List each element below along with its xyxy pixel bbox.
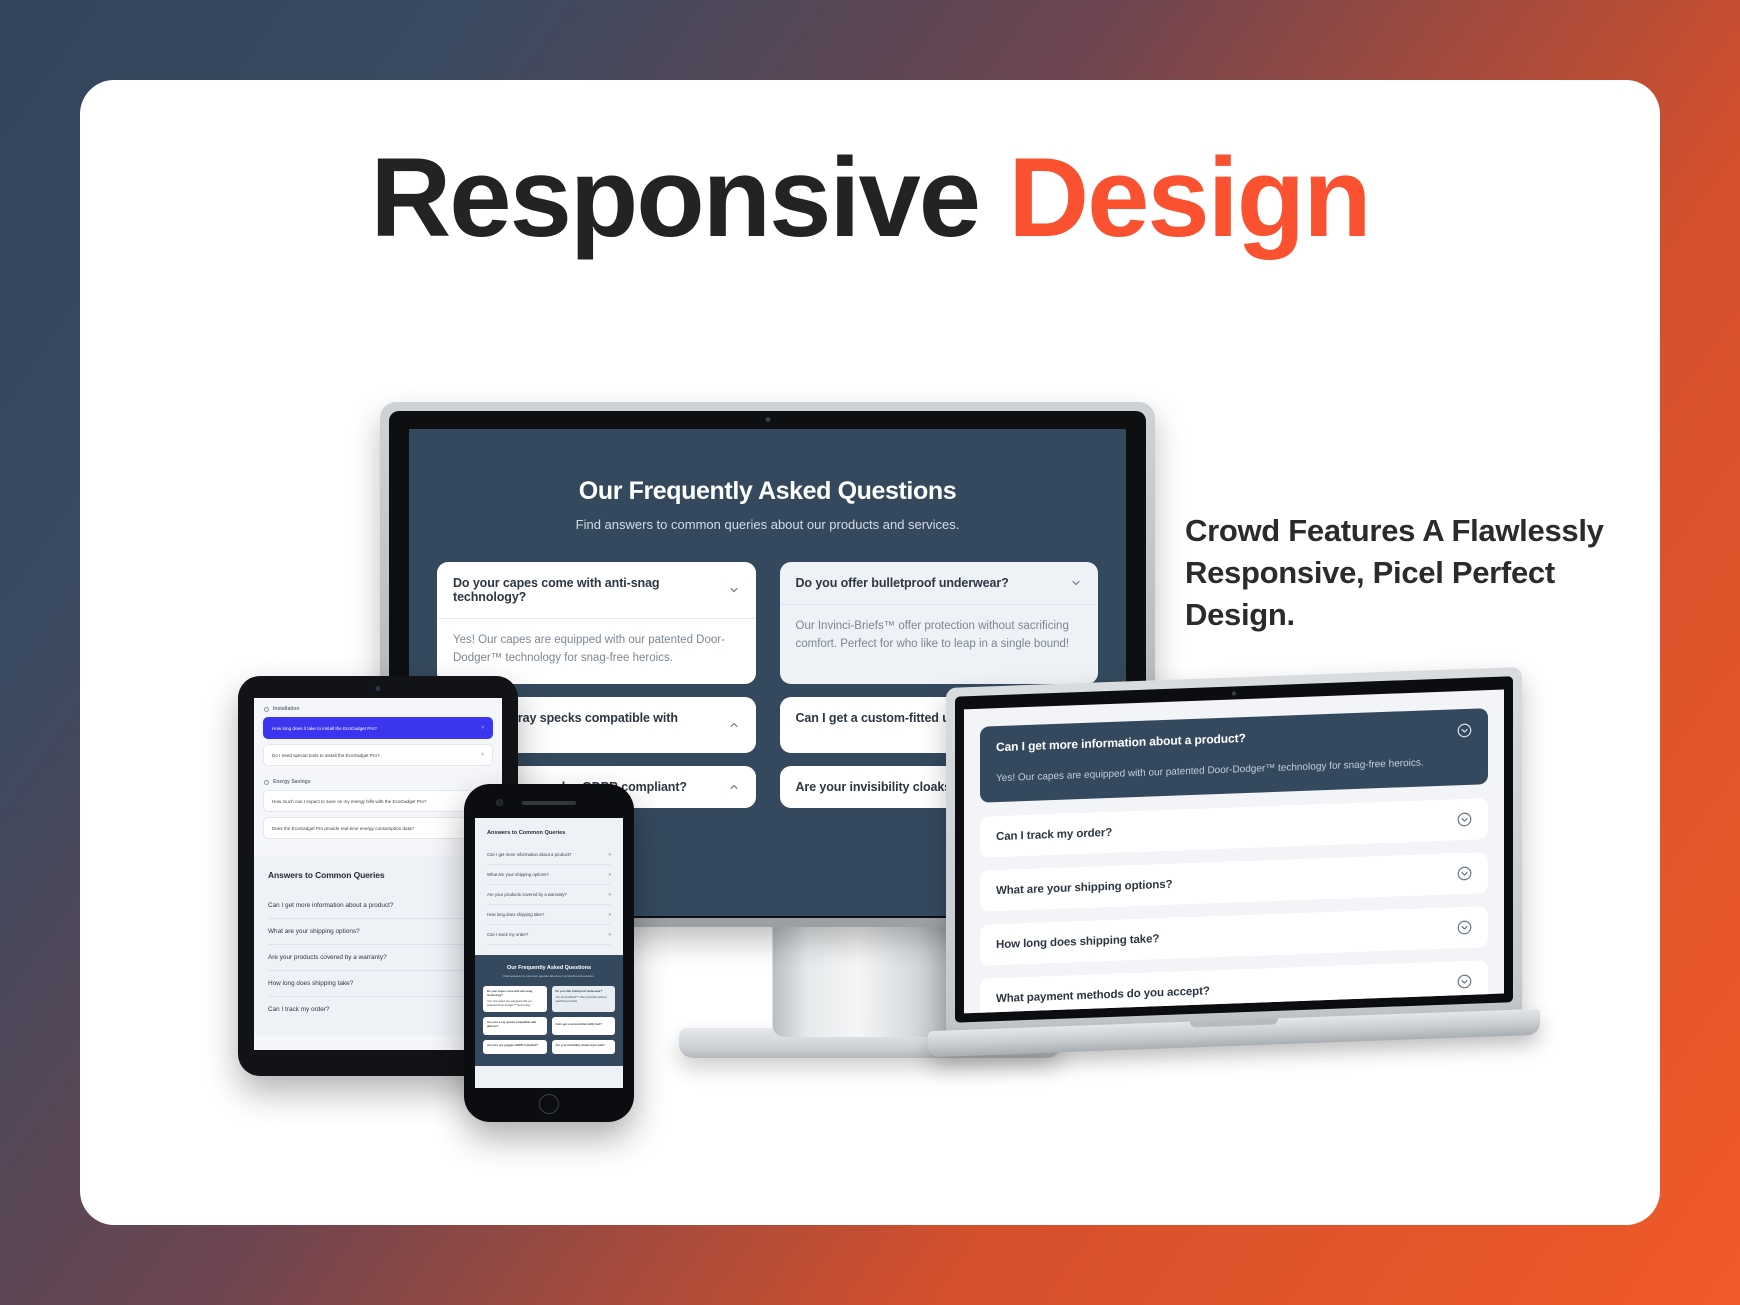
list-item[interactable]: Are your products covered by a warranty?… <box>487 885 611 905</box>
tablet-faq-row[interactable]: Does the EcoGadget Pro provide real-time… <box>263 817 493 839</box>
answers-heading: Answers to Common Queries <box>475 818 623 845</box>
chevron-down-circle-icon[interactable] <box>1457 723 1472 739</box>
faq-question-text: How much can I expect to save on my ener… <box>272 799 426 804</box>
faq-question-text: Can I get a custom-fitted utility belt? <box>556 1023 602 1027</box>
tablet-section-header: Energy Savings <box>254 771 502 790</box>
phone-faq-section: Our Frequently Asked Questions Find answ… <box>475 955 623 1066</box>
faq-card[interactable]: Do you offer bulletproof underwear? Our … <box>552 986 616 1012</box>
webcam-icon <box>376 686 381 691</box>
faq-question-row[interactable]: Can I get more information about a produ… <box>996 723 1472 755</box>
faq-question-text: Are your products covered by a warranty? <box>487 892 567 897</box>
faq-question-text: Can I get more information about a produ… <box>487 852 571 857</box>
faq-question-text: Are your invisibility cloaks dryer-safe? <box>556 1044 605 1048</box>
faq-question-text: Can I track my order? <box>996 826 1112 842</box>
chevron-down-icon[interactable]: ˅ <box>608 932 611 937</box>
faq-subheading: Find answers to common queries about our… <box>483 974 615 978</box>
chevron-down-icon[interactable]: ˅ <box>608 852 611 857</box>
section-label: Installation <box>273 706 299 712</box>
chevron-down-icon[interactable]: ˅ <box>481 725 484 731</box>
phone-device: Answers to Common Queries Can I get more… <box>464 784 634 1122</box>
list-item[interactable]: Can I track my order? <box>268 997 488 1022</box>
headline-part-1: Responsive <box>370 135 979 260</box>
earpiece-speaker <box>522 801 576 805</box>
chevron-down-icon[interactable] <box>728 584 740 596</box>
chevron-down-icon[interactable]: ˅ <box>608 872 611 877</box>
faq-question-text: What are your shipping options? <box>487 872 549 877</box>
chevron-down-circle-icon[interactable] <box>1457 920 1472 936</box>
phone-screen: Answers to Common Queries Can I get more… <box>475 818 623 1088</box>
faq-answer-text: Our Invinci-Briefs™ offer protection wit… <box>556 996 607 1003</box>
list-item[interactable]: Can I get more information about a produ… <box>487 845 611 865</box>
faq-subheading: Find answers to common queries about our… <box>409 517 1126 532</box>
faq-answer-text: Yes! Our capes are equipped with our pat… <box>487 1000 532 1007</box>
faq-grid: Do your capes come with anti-snag techno… <box>483 986 615 1054</box>
tablet-faq-row[interactable]: How much can I expect to save on my ener… <box>263 790 493 812</box>
home-button[interactable] <box>539 1094 559 1114</box>
faq-row[interactable]: What are your shipping options? <box>980 852 1488 912</box>
laptop-inner-frame: Can I get more information about a produ… <box>955 676 1513 1022</box>
faq-heading: Our Frequently Asked Questions <box>483 965 615 971</box>
faq-card[interactable]: Can I get a custom-fitted utility belt? <box>552 1017 616 1035</box>
chevron-down-icon[interactable]: ˅ <box>481 752 484 758</box>
chevron-down-circle-icon[interactable] <box>1457 812 1472 828</box>
faq-question-text: How long does shipping take? <box>487 912 544 917</box>
tablet-section-header: Installation <box>254 698 502 717</box>
faq-question-text: Do you offer bulletproof underwear? <box>796 576 1009 590</box>
front-camera-icon <box>496 799 503 806</box>
faq-question-text: Can I get more information about a produ… <box>996 731 1246 754</box>
faq-question-row[interactable]: Do your capes come with anti-snag techno… <box>437 562 756 619</box>
chevron-down-icon[interactable]: ˅ <box>608 912 611 917</box>
page-title: Responsive Design <box>80 142 1660 254</box>
faq-question-text: Are your spy goggles GDPR compliant? <box>487 1044 538 1048</box>
section-label: Energy Savings <box>273 779 311 785</box>
monitor-stand <box>773 925 968 1037</box>
laptop-lid: Can I get more information about a produ… <box>946 667 1522 1033</box>
poster-canvas: Responsive Design Crowd Features A Flawl… <box>0 0 1740 1305</box>
tablet-faq-row[interactable]: Do I need special tools to install the E… <box>263 744 493 766</box>
section-bullet-icon <box>264 780 269 785</box>
faq-card[interactable]: Are your x-ray specks compatible with gl… <box>483 1017 547 1035</box>
list-item[interactable]: How long does shipping take? <box>268 971 488 997</box>
laptop-screen: Can I get more information about a produ… <box>964 690 1504 1014</box>
faq-question-text: How long does shipping take? <box>996 933 1159 951</box>
list-item[interactable]: How long does shipping take? ˅ <box>487 905 611 925</box>
faq-question-text: Does the EcoGadget Pro provide real-time… <box>272 826 414 831</box>
headline-part-2: Design <box>1008 135 1369 260</box>
faq-card[interactable]: Do your capes come with anti-snag techno… <box>483 986 547 1012</box>
chevron-up-icon[interactable] <box>728 719 740 731</box>
faq-question-text: How long does it take to install the Eco… <box>272 726 377 731</box>
faq-row[interactable]: Can I track my order? <box>980 798 1488 858</box>
list-item[interactable]: What are your shipping options? <box>268 919 488 945</box>
faq-question-row[interactable]: Do you offer bulletproof underwear? <box>780 562 1099 605</box>
chevron-up-icon[interactable] <box>728 781 740 793</box>
webcam-icon <box>1232 691 1236 695</box>
faq-card[interactable]: Are your spy goggles GDPR compliant? <box>483 1040 547 1054</box>
faq-question-text: Do your capes come with anti-snag techno… <box>453 576 718 604</box>
faq-card[interactable]: Do you offer bulletproof underwear? Our … <box>780 562 1099 684</box>
chevron-down-circle-icon[interactable] <box>1457 974 1472 990</box>
webcam-icon <box>765 417 770 422</box>
list-item[interactable]: What are your shipping options? ˅ <box>487 865 611 885</box>
chevron-down-icon[interactable] <box>1070 577 1082 589</box>
faq-heading: Our Frequently Asked Questions <box>409 477 1126 506</box>
faq-card[interactable]: Are your invisibility cloaks dryer-safe? <box>552 1040 616 1054</box>
faq-row[interactable]: How long does shipping take? <box>980 906 1488 966</box>
faq-question-text: What are your shipping options? <box>996 878 1172 896</box>
faq-question-text: What payment methods do you accept? <box>996 985 1210 1005</box>
faq-card[interactable]: Do your capes come with anti-snag techno… <box>437 562 756 684</box>
tablet-faq-row[interactable]: How long does it take to install the Eco… <box>263 717 493 739</box>
faq-question-text: Do your capes come with anti-snag techno… <box>487 990 543 998</box>
faq-answer-text: Our Invinci-Briefs™ offer protection wit… <box>780 605 1099 670</box>
faq-question-text: Do you offer bulletproof underwear? <box>556 990 612 994</box>
chevron-down-icon[interactable]: ˅ <box>608 892 611 897</box>
chevron-down-circle-icon[interactable] <box>1457 866 1472 882</box>
list-item[interactable]: Can I track my order? ˅ <box>487 925 611 945</box>
list-item[interactable]: Are your products covered by a warranty? <box>268 945 488 971</box>
faq-card-expanded[interactable]: Can I get more information about a produ… <box>980 708 1488 803</box>
faq-question-text: Are your x-ray specks compatible with gl… <box>487 1021 543 1029</box>
white-card: Responsive Design Crowd Features A Flawl… <box>80 80 1660 1225</box>
faq-row[interactable]: What payment methods do you accept? <box>980 960 1488 1013</box>
faq-question-text: Do I need special tools to install the E… <box>272 753 380 758</box>
answers-heading: Answers to Common Queries <box>268 870 488 880</box>
section-bullet-icon <box>264 707 269 712</box>
list-item[interactable]: Can I get more information about a produ… <box>268 893 488 919</box>
tagline-text: Crowd Features A Flawlessly Responsive, … <box>1185 510 1645 636</box>
faq-answer-text: Yes! Our capes are equipped with our pat… <box>437 619 756 684</box>
faq-answer-text: Yes! Our capes are equipped with our pat… <box>996 755 1434 787</box>
faq-question-text: Can I track my order? <box>487 932 528 937</box>
laptop-device: Can I get more information about a produ… <box>946 688 1522 1060</box>
